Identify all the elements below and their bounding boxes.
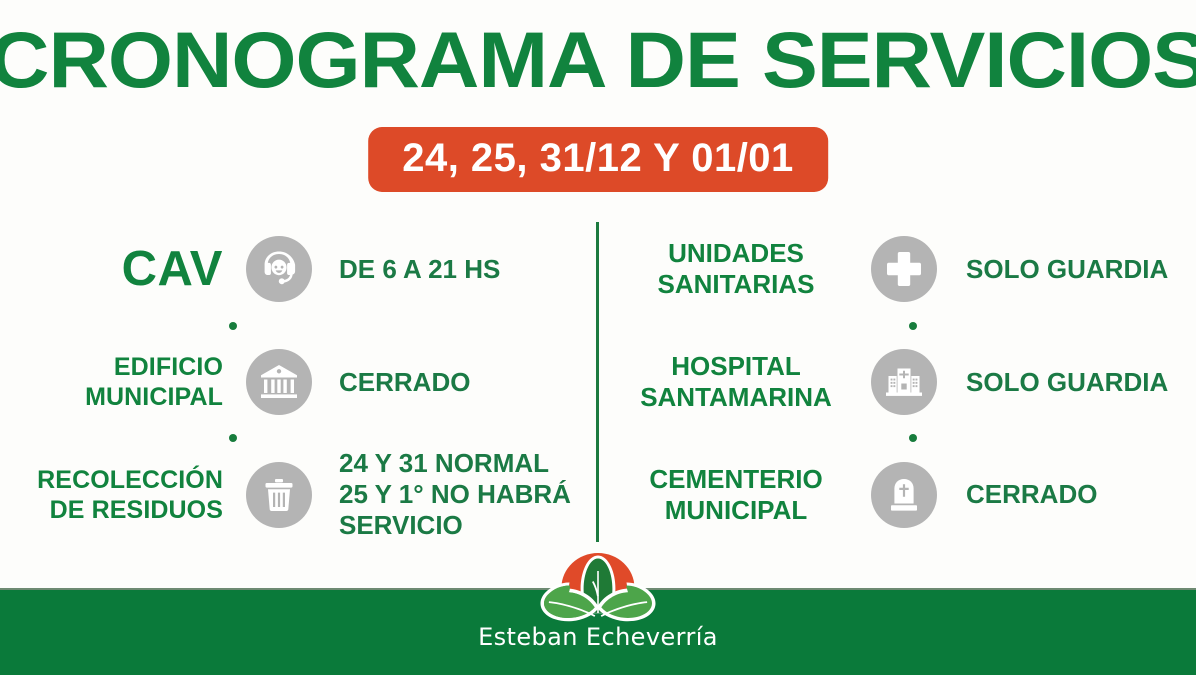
row-separator-dot [229, 434, 237, 442]
service-label-cementerio-municipal: CEMENTERIO MUNICIPAL [622, 464, 850, 526]
left-column: CAV DE 6 A 21 HS EDIFICIO MU [0, 214, 598, 546]
logo-text: Esteban Echeverría [478, 623, 718, 651]
date-badge: 24, 25, 31/12 Y 01/01 [368, 127, 828, 192]
label-line-2: MUNICIPAL [622, 495, 850, 526]
poster-canvas: CRONOGRAMA DE SERVICIOS 24, 25, 31/12 Y … [0, 0, 1196, 675]
label-line-1: UNIDADES [622, 238, 850, 269]
service-row-edificio-municipal: EDIFICIO MUNICIPAL [0, 331, 598, 434]
label-line-2: MUNICIPAL [0, 382, 223, 412]
service-row-cav: CAV DE 6 A 21 HS [0, 218, 598, 321]
service-icon-wrap [850, 462, 958, 528]
service-label-hospital-santamarina: HOSPITAL SANTAMARINA [622, 351, 850, 413]
headset-operator-icon [246, 236, 312, 302]
service-label-recoleccion-residuos: RECOLECCIÓN DE RESIDUOS [0, 465, 223, 525]
value-line-1: 24 Y 31 NORMAL [339, 448, 598, 479]
row-separator-dot [909, 434, 917, 442]
service-value-unidades-sanitarias: SOLO GUARDIA [958, 254, 1196, 285]
right-column: UNIDADES SANITARIAS SOLO GUARDIA HOSPITA… [598, 214, 1196, 546]
label-line-1: RECOLECCIÓN [0, 465, 223, 495]
tombstone-icon [871, 462, 937, 528]
label-line-2: SANITARIAS [622, 269, 850, 300]
value-line-2: 25 Y 1° NO HABRÁ [339, 479, 598, 510]
service-value-recoleccion-residuos: 24 Y 31 NORMAL 25 Y 1° NO HABRÁ SERVICIO [335, 448, 598, 541]
label-line-1: CEMENTERIO [622, 464, 850, 495]
trash-bin-icon [246, 462, 312, 528]
service-row-unidades-sanitarias: UNIDADES SANITARIAS SOLO GUARDIA [598, 218, 1196, 321]
service-icon-wrap [223, 462, 335, 528]
service-icon-wrap [223, 349, 335, 415]
label-line-1: EDIFICIO [0, 352, 223, 382]
service-icon-wrap [850, 236, 958, 302]
hospital-building-icon [871, 349, 937, 415]
label-line-1: HOSPITAL [622, 351, 850, 382]
service-icon-wrap [223, 236, 335, 302]
service-value-edificio-municipal: CERRADO [335, 367, 598, 398]
service-value-hospital-santamarina: SOLO GUARDIA [958, 367, 1196, 398]
service-icon-wrap [850, 349, 958, 415]
service-label-cav: CAV [0, 243, 223, 295]
government-building-icon [246, 349, 312, 415]
value-line-3: SERVICIO [339, 510, 598, 541]
service-row-hospital-santamarina: HOSPITAL SANTAMARINA [598, 331, 1196, 434]
row-separator-dot [909, 322, 917, 330]
service-label-edificio-municipal: EDIFICIO MUNICIPAL [0, 352, 223, 412]
service-value-cementerio-municipal: CERRADO [958, 479, 1196, 510]
services-grid: CAV DE 6 A 21 HS EDIFICIO MU [0, 214, 1196, 546]
label-line-2: DE RESIDUOS [0, 495, 223, 525]
service-row-cementerio-municipal: CEMENTERIO MUNICIPAL CERRADO [598, 443, 1196, 546]
service-label-unidades-sanitarias: UNIDADES SANITARIAS [622, 238, 850, 300]
medical-cross-icon [871, 236, 937, 302]
page-title: CRONOGRAMA DE SERVICIOS [0, 18, 1196, 102]
service-value-cav: DE 6 A 21 HS [335, 254, 598, 285]
label-line-2: SANTAMARINA [622, 382, 850, 413]
row-separator-dot [229, 322, 237, 330]
service-row-recoleccion-residuos: RECOLECCIÓN DE RESIDUOS 24 Y 31 NORMAL 2… [0, 443, 598, 546]
